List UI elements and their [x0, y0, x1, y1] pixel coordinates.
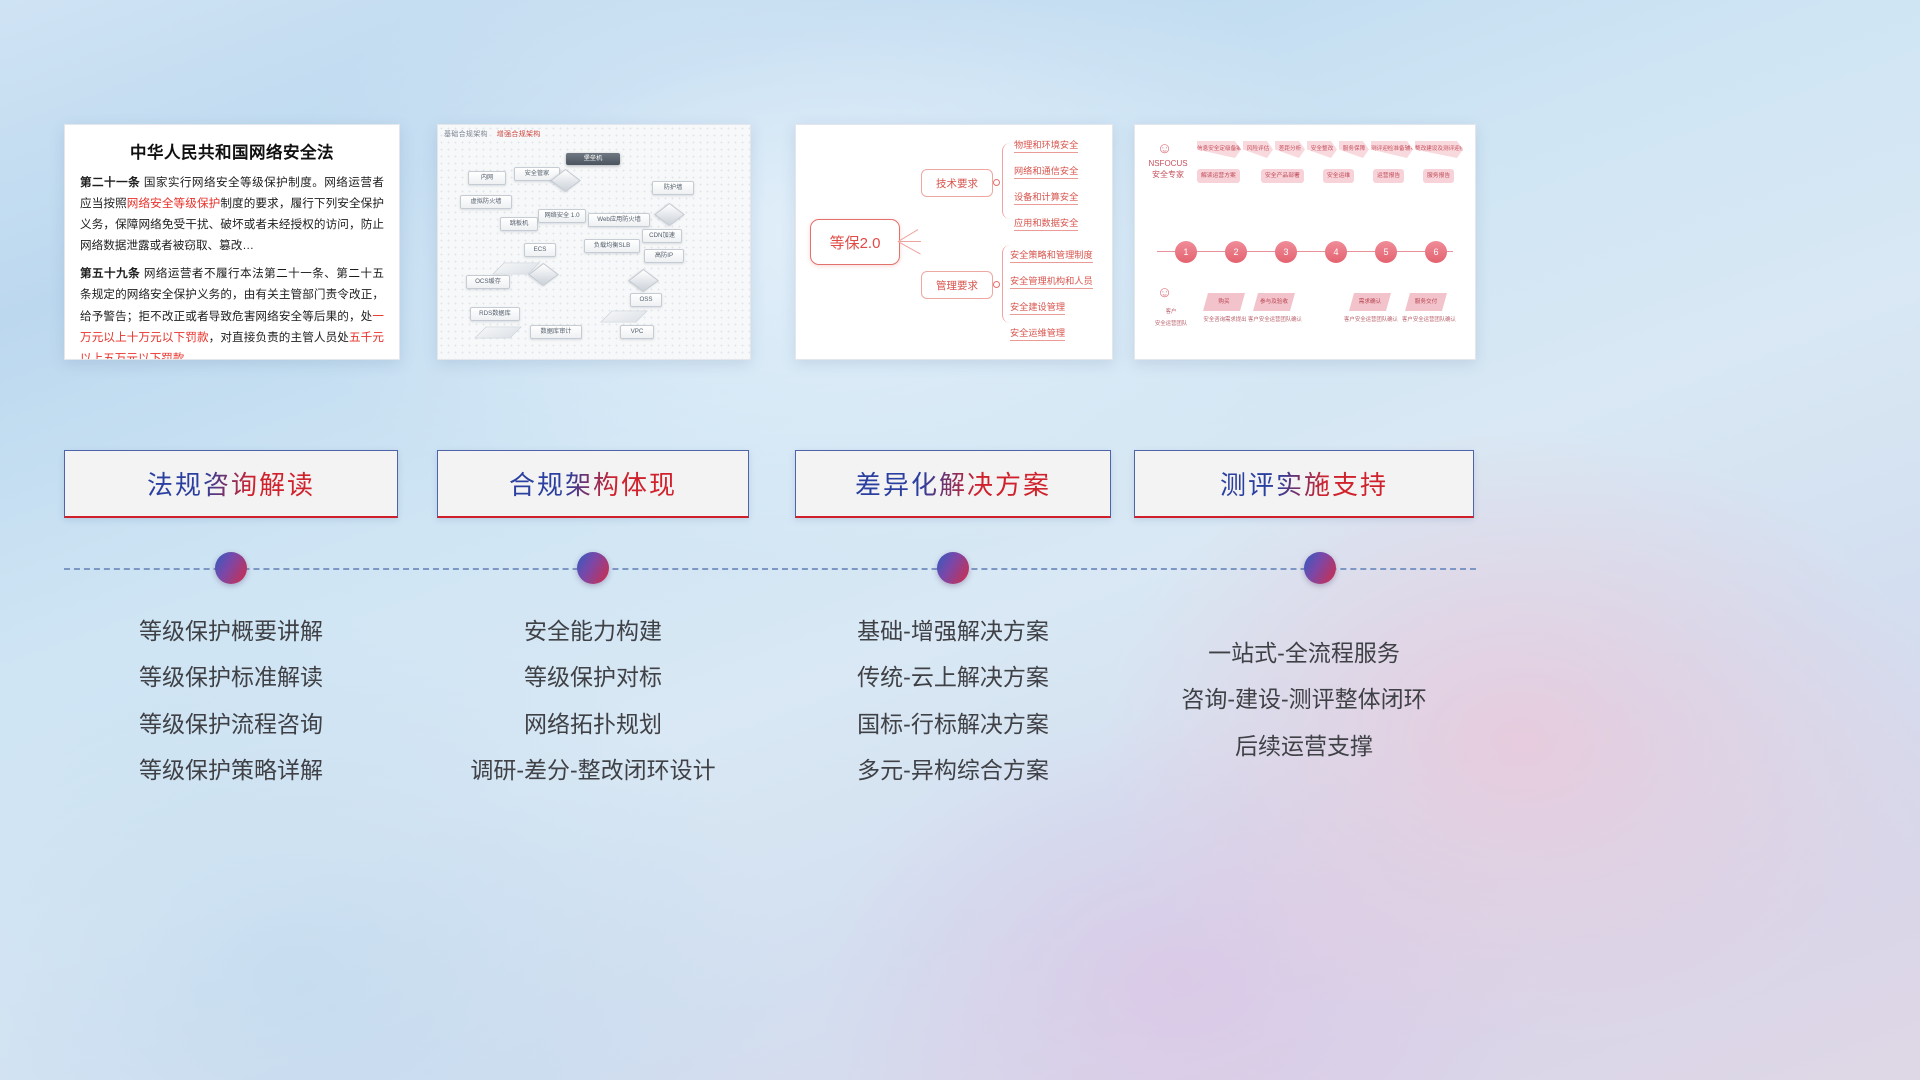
list-item: 等级保护流程咨询: [64, 701, 398, 747]
list-item: 多元-异构综合方案: [790, 747, 1116, 793]
layer-plate-icon: [474, 327, 522, 339]
list-item: 等级保护标准解读: [64, 654, 398, 700]
brand-name: NSFOCUS: [1148, 159, 1187, 168]
law-article-21: 第二十一条 国家实行网络安全等级保护制度。网络运营者应当按照网络安全等级保护制度…: [80, 172, 384, 256]
node-bastion-host[interactable]: 堡垒机: [566, 153, 620, 165]
node-oss[interactable]: OSS: [630, 293, 662, 307]
section-list-3: 基础-增强解决方案 传统-云上解决方案 国标-行标解决方案 多元-异构综合方案: [790, 608, 1116, 794]
node-database-audit[interactable]: 数据库审计: [530, 325, 582, 339]
article-21-highlight: 网络安全等级保护: [127, 197, 221, 210]
list-item: 国标-行标解决方案: [790, 701, 1116, 747]
timeline-dot-4[interactable]: [1304, 552, 1336, 584]
slide-canvas: 中华人民共和国网络安全法 第二十一条 国家实行网络安全等级保护制度。网络运营者应…: [0, 0, 1920, 1080]
architecture-tabs[interactable]: 基础合规架构 增强合规架构: [444, 129, 541, 139]
roadmap-bottom-item[interactable]: 服务交付: [1405, 293, 1447, 311]
list-item: 传统-云上解决方案: [790, 654, 1116, 700]
mindmap-branch-management[interactable]: 管理要求: [921, 271, 993, 299]
brand-subtitle: 安全专家: [1152, 170, 1184, 179]
roadmap-bottom-item[interactable]: 购买: [1203, 293, 1245, 311]
tab-enhanced-architecture[interactable]: 增强合规架构: [497, 131, 541, 138]
roadmap-chevron[interactable]: 差距分析: [1275, 141, 1305, 158]
roadmap-bottom-item[interactable]: 需求确认: [1349, 293, 1391, 311]
mindmap-connector: [897, 241, 920, 255]
section-heading-3[interactable]: 差异化解决方案: [795, 450, 1111, 518]
node-web-application-firewall[interactable]: Web应用防火墙: [588, 213, 650, 227]
list-item: 安全能力构建: [420, 608, 766, 654]
roadmap-step[interactable]: 5: [1375, 241, 1397, 263]
node-ocs-cache[interactable]: OCS缓存: [466, 275, 510, 289]
card-architecture-diagram[interactable]: 基础合规架构 增强合规架构 堡垒机 内网 安全管家 虚拟防火墙 跳板机 网络安全…: [437, 124, 751, 360]
roadmap-chevron[interactable]: 安全整改: [1307, 141, 1337, 158]
roadmap-bottom-item[interactable]: 参与及验收: [1253, 293, 1295, 311]
cards-row: 中华人民共和国网络安全法 第二十一条 国家实行网络安全等级保护制度。网络运营者应…: [0, 124, 1920, 364]
roadmap-step[interactable]: 4: [1325, 241, 1347, 263]
customer-sublabel: 安全运营团队: [1143, 319, 1199, 327]
list-item: 咨询-建设-测评整体闭环: [1130, 676, 1478, 722]
list-item: 一站式-全流程服务: [1130, 630, 1478, 676]
list-item: 调研-差分-整改闭环设计: [420, 747, 766, 793]
list-item: 后续运营支撑: [1130, 723, 1478, 769]
law-article-59: 第五十九条 网络运营者不履行本法第二十一条、第二十五条规定的网络安全保护义务的，…: [80, 263, 384, 360]
roadmap-bottom-sub: 客户安全运营团队确认: [1247, 315, 1303, 323]
article-59-text-b: ，对直接负责的主管人员处: [209, 331, 349, 344]
section-heading-2-label: 合规架构体现: [509, 465, 677, 502]
mindmap-bracket: [1002, 143, 1013, 219]
mindmap-leaf[interactable]: 物理和环境安全: [1014, 137, 1078, 153]
node-intranet[interactable]: 内网: [468, 171, 506, 185]
roadmap-chevron[interactable]: 服务保障: [1339, 141, 1369, 158]
mindmap-leaf[interactable]: 应用和数据安全: [1014, 215, 1078, 231]
roadmap-stage-pill[interactable]: 安全产品部署: [1261, 169, 1304, 183]
section-heading-2[interactable]: 合规架构体现: [437, 450, 749, 518]
mindmap-branch-technical[interactable]: 技术要求: [921, 169, 993, 197]
node-protection-wall[interactable]: 防护墙: [652, 181, 694, 195]
expert-person-icon: ☺: [1157, 141, 1172, 156]
mindmap-leaf[interactable]: 安全管理机构和人员: [1010, 273, 1093, 289]
list-item: 网络拓扑规划: [420, 701, 766, 747]
roadmap-step[interactable]: 2: [1225, 241, 1247, 263]
node-vpc[interactable]: VPC: [620, 325, 654, 339]
mindmap-leaf[interactable]: 安全运维管理: [1010, 325, 1065, 341]
node-jump-server[interactable]: 跳板机: [500, 217, 538, 231]
tab-basic-architecture[interactable]: 基础合规架构: [444, 131, 488, 138]
node-virtual-firewall[interactable]: 虚拟防火墙: [460, 195, 512, 209]
article-59-label: 第五十九条: [80, 267, 140, 280]
roadmap-step[interactable]: 6: [1425, 241, 1447, 263]
section-list-2: 安全能力构建 等级保护对标 网络拓扑规划 调研-差分-整改闭环设计: [420, 608, 766, 794]
article-21-label: 第二十一条: [80, 176, 140, 189]
list-item: 等级保护策略详解: [64, 747, 398, 793]
law-title: 中华人民共和国网络安全法: [80, 139, 384, 163]
roadmap-bottom-sub: 安全咨询需求提出: [1197, 315, 1253, 323]
card-service-roadmap[interactable]: ☺ NSFOCUS 安全专家 信息安全定级备案辅导 风险评估 差距分析 安全整改…: [1134, 124, 1476, 360]
roadmap-stage-pill[interactable]: 服务报告: [1423, 169, 1454, 183]
roadmap-timeline-line: [1157, 251, 1453, 252]
roadmap-canvas: ☺ NSFOCUS 安全专家 信息安全定级备案辅导 风险评估 差距分析 安全整改…: [1135, 125, 1475, 359]
section-headings-row: 法规咨询解读 合规架构体现 差异化解决方案 测评实施支持: [0, 450, 1920, 520]
timeline-dot-1[interactable]: [215, 552, 247, 584]
node-rds-database[interactable]: RDS数据库: [470, 307, 520, 321]
mindmap-leaf[interactable]: 设备和计算安全: [1014, 189, 1078, 205]
node-network-security-1[interactable]: 网络安全 1.0: [538, 209, 586, 223]
card-mindmap[interactable]: 等保2.0 技术要求 管理要求 物理和环境安全 网络和通信安全 设备和计算安全 …: [795, 124, 1113, 360]
section-list-4: 一站式-全流程服务 咨询-建设-测评整体闭环 后续运营支撑: [1130, 630, 1478, 769]
roadmap-bottom-sub: 客户安全运营团队确认: [1399, 315, 1459, 323]
section-heading-1[interactable]: 法规咨询解读: [64, 450, 398, 518]
node-anti-ddos-ip[interactable]: 高防IP: [644, 249, 684, 263]
timeline-dot-2[interactable]: [577, 552, 609, 584]
mindmap-leaf[interactable]: 安全建设管理: [1010, 299, 1065, 315]
list-item: 等级保护概要讲解: [64, 608, 398, 654]
section-heading-4[interactable]: 测评实施支持: [1134, 450, 1474, 518]
section-list-1: 等级保护概要讲解 等级保护标准解读 等级保护流程咨询 等级保护策略详解: [64, 608, 398, 794]
section-heading-3-label: 差异化解决方案: [855, 465, 1051, 502]
roadmap-stage-pill[interactable]: 运营报告: [1373, 169, 1404, 183]
mindmap-collapse-icon[interactable]: [993, 281, 1000, 288]
mindmap-root-node[interactable]: 等保2.0: [810, 219, 900, 265]
roadmap-chevron[interactable]: 测评迎检准备辅导: [1371, 141, 1413, 158]
timeline-dot-3[interactable]: [937, 552, 969, 584]
timeline-dashed-line: [64, 568, 1476, 570]
roadmap-stage-pill[interactable]: 解读运营方案: [1197, 169, 1240, 183]
roadmap-stage-pill[interactable]: 安全运维: [1323, 169, 1354, 183]
roadmap-chevron[interactable]: 风险评估: [1243, 141, 1273, 158]
section-heading-4-label: 测评实施支持: [1220, 465, 1388, 502]
roadmap-step[interactable]: 1: [1175, 241, 1197, 263]
layer-plate-icon: [600, 311, 648, 323]
node-cdn-acceleration[interactable]: CDN加速: [642, 229, 682, 243]
roadmap-chevron[interactable]: 信息安全定级备案辅导: [1197, 141, 1241, 158]
server-cube-icon: [654, 203, 685, 226]
roadmap-brand: NSFOCUS 安全专家: [1145, 159, 1191, 181]
law-body: 中华人民共和国网络安全法 第二十一条 国家实行网络安全等级保护制度。网络运营者应…: [65, 125, 399, 359]
customer-person-icon: ☺: [1157, 285, 1172, 300]
mindmap-leaf[interactable]: 网络和通信安全: [1014, 163, 1078, 179]
customer-label: 客户: [1147, 307, 1195, 315]
card-law-document[interactable]: 中华人民共和国网络安全法 第二十一条 国家实行网络安全等级保护制度。网络运营者应…: [64, 124, 400, 360]
list-item: 等级保护对标: [420, 654, 766, 700]
server-cube-icon: [628, 269, 659, 292]
mindmap-canvas: 等保2.0 技术要求 管理要求 物理和环境安全 网络和通信安全 设备和计算安全 …: [796, 125, 1112, 359]
section-heading-1-label: 法规咨询解读: [147, 465, 315, 502]
roadmap-chevron[interactable]: 整改建设及测评迎检等级保护: [1415, 141, 1463, 158]
node-load-balancer-slb[interactable]: 负载均衡SLB: [584, 239, 640, 253]
node-ecs[interactable]: ECS: [524, 243, 556, 257]
architecture-canvas: 基础合规架构 增强合规架构 堡垒机 内网 安全管家 虚拟防火墙 跳板机 网络安全…: [438, 125, 750, 359]
mindmap-leaf[interactable]: 安全策略和管理制度: [1010, 247, 1093, 263]
roadmap-step[interactable]: 3: [1275, 241, 1297, 263]
roadmap-bottom-sub: 客户安全运营团队确认: [1341, 315, 1401, 323]
list-item: 基础-增强解决方案: [790, 608, 1116, 654]
mindmap-collapse-icon[interactable]: [993, 179, 1000, 186]
